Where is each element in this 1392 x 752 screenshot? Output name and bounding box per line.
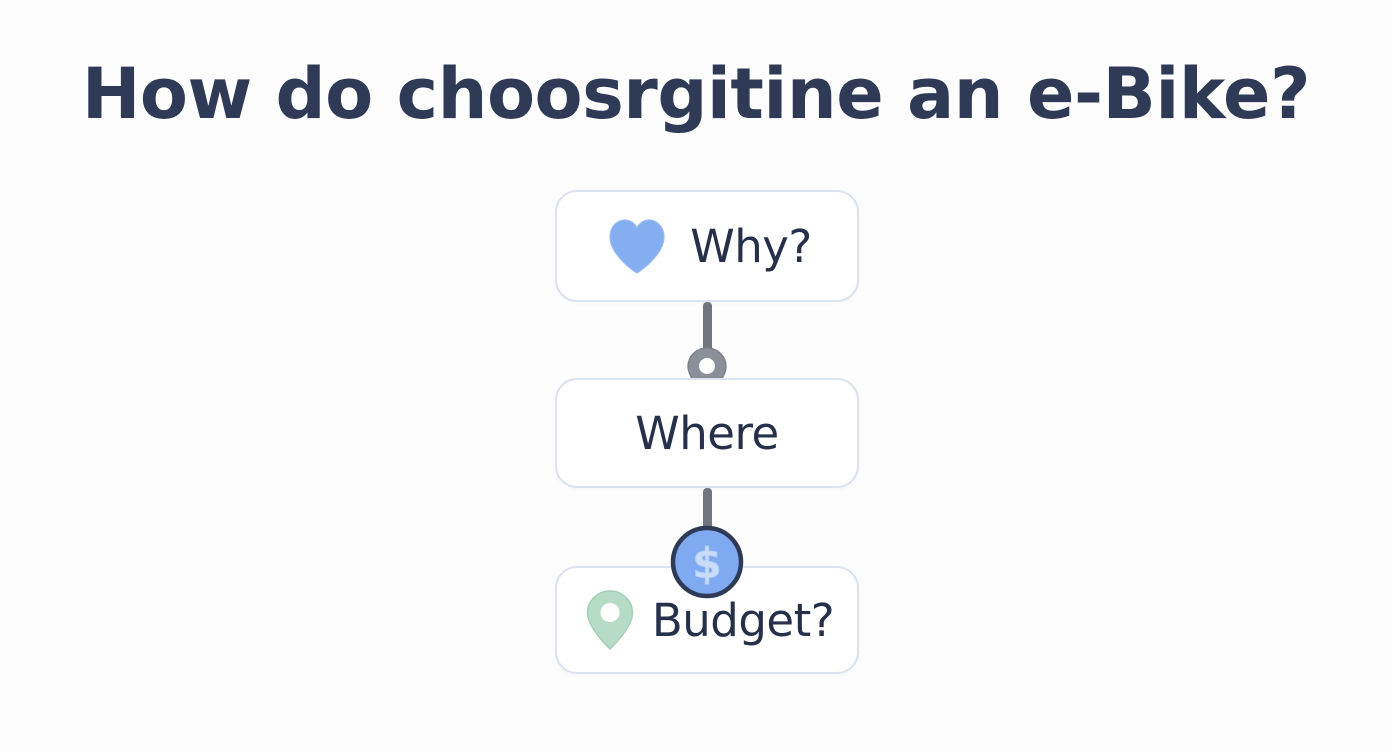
- heart-icon: [606, 217, 668, 275]
- flow-step-why[interactable]: Why?: [555, 190, 859, 302]
- diagram-canvas: How do choosrgitine an e-Bike? Why? W: [0, 0, 1392, 752]
- page-title: How do choosrgitine an e-Bike?: [0, 58, 1392, 132]
- flow-step-where[interactable]: Where: [555, 378, 859, 488]
- flow-step-label: Why?: [690, 224, 812, 269]
- flow-connector-1: [555, 302, 859, 378]
- map-pin-icon: [584, 588, 636, 652]
- flow-step-label: Where: [635, 411, 778, 456]
- svg-text:$: $: [692, 539, 721, 588]
- flowchart: Why? Where $: [555, 190, 859, 674]
- flow-connector-2: $: [555, 488, 859, 566]
- dollar-coin-icon: $: [669, 524, 745, 600]
- flow-step-label: Budget?: [652, 598, 834, 643]
